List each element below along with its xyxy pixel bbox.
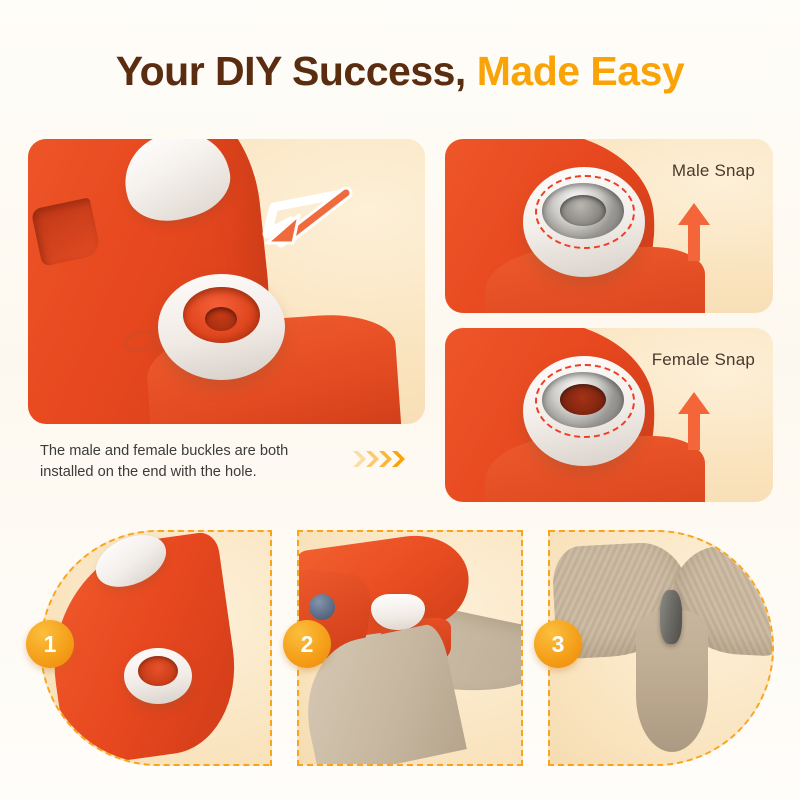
step-badge-3: 3	[534, 620, 582, 668]
female-snap-panel: Female Snap	[445, 328, 773, 502]
female-snap-label: Female Snap	[652, 350, 755, 370]
down-left-arrow-icon	[233, 187, 353, 267]
page-title: Your DIY Success, Made Easy	[0, 48, 800, 95]
instruction-caption: The male and female buckles are both ins…	[40, 441, 340, 482]
step-badge-1: 1	[26, 620, 74, 668]
socket-hole	[205, 307, 237, 331]
male-snap-label: Male Snap	[672, 161, 755, 181]
step-2-tool-pin	[309, 594, 335, 620]
step-1-snap-prongs	[138, 656, 178, 686]
title-part-primary: Your DIY Success,	[116, 48, 466, 94]
title-part-accent: Made Easy	[477, 48, 684, 94]
step-1-image	[42, 532, 270, 764]
step-badge-2: 2	[283, 620, 331, 668]
hero-photo-panel	[28, 139, 425, 424]
up-arrow-icon	[677, 390, 711, 452]
step-3-image	[550, 532, 772, 764]
step-2-image	[299, 532, 521, 764]
step-3-installed-snap	[660, 590, 682, 644]
infographic-page: Your DIY Success, Made Easy	[0, 0, 800, 800]
step-panel-2: 2	[297, 530, 523, 766]
double-chevron-right-icon	[352, 448, 414, 470]
red-dashed-circle-icon	[535, 364, 635, 438]
up-arrow-icon	[677, 201, 711, 263]
step-panel-3: 3	[548, 530, 774, 766]
red-dashed-circle-icon	[535, 175, 635, 249]
male-snap-panel: Male Snap	[445, 139, 773, 313]
step-panel-1: 1	[40, 530, 272, 766]
